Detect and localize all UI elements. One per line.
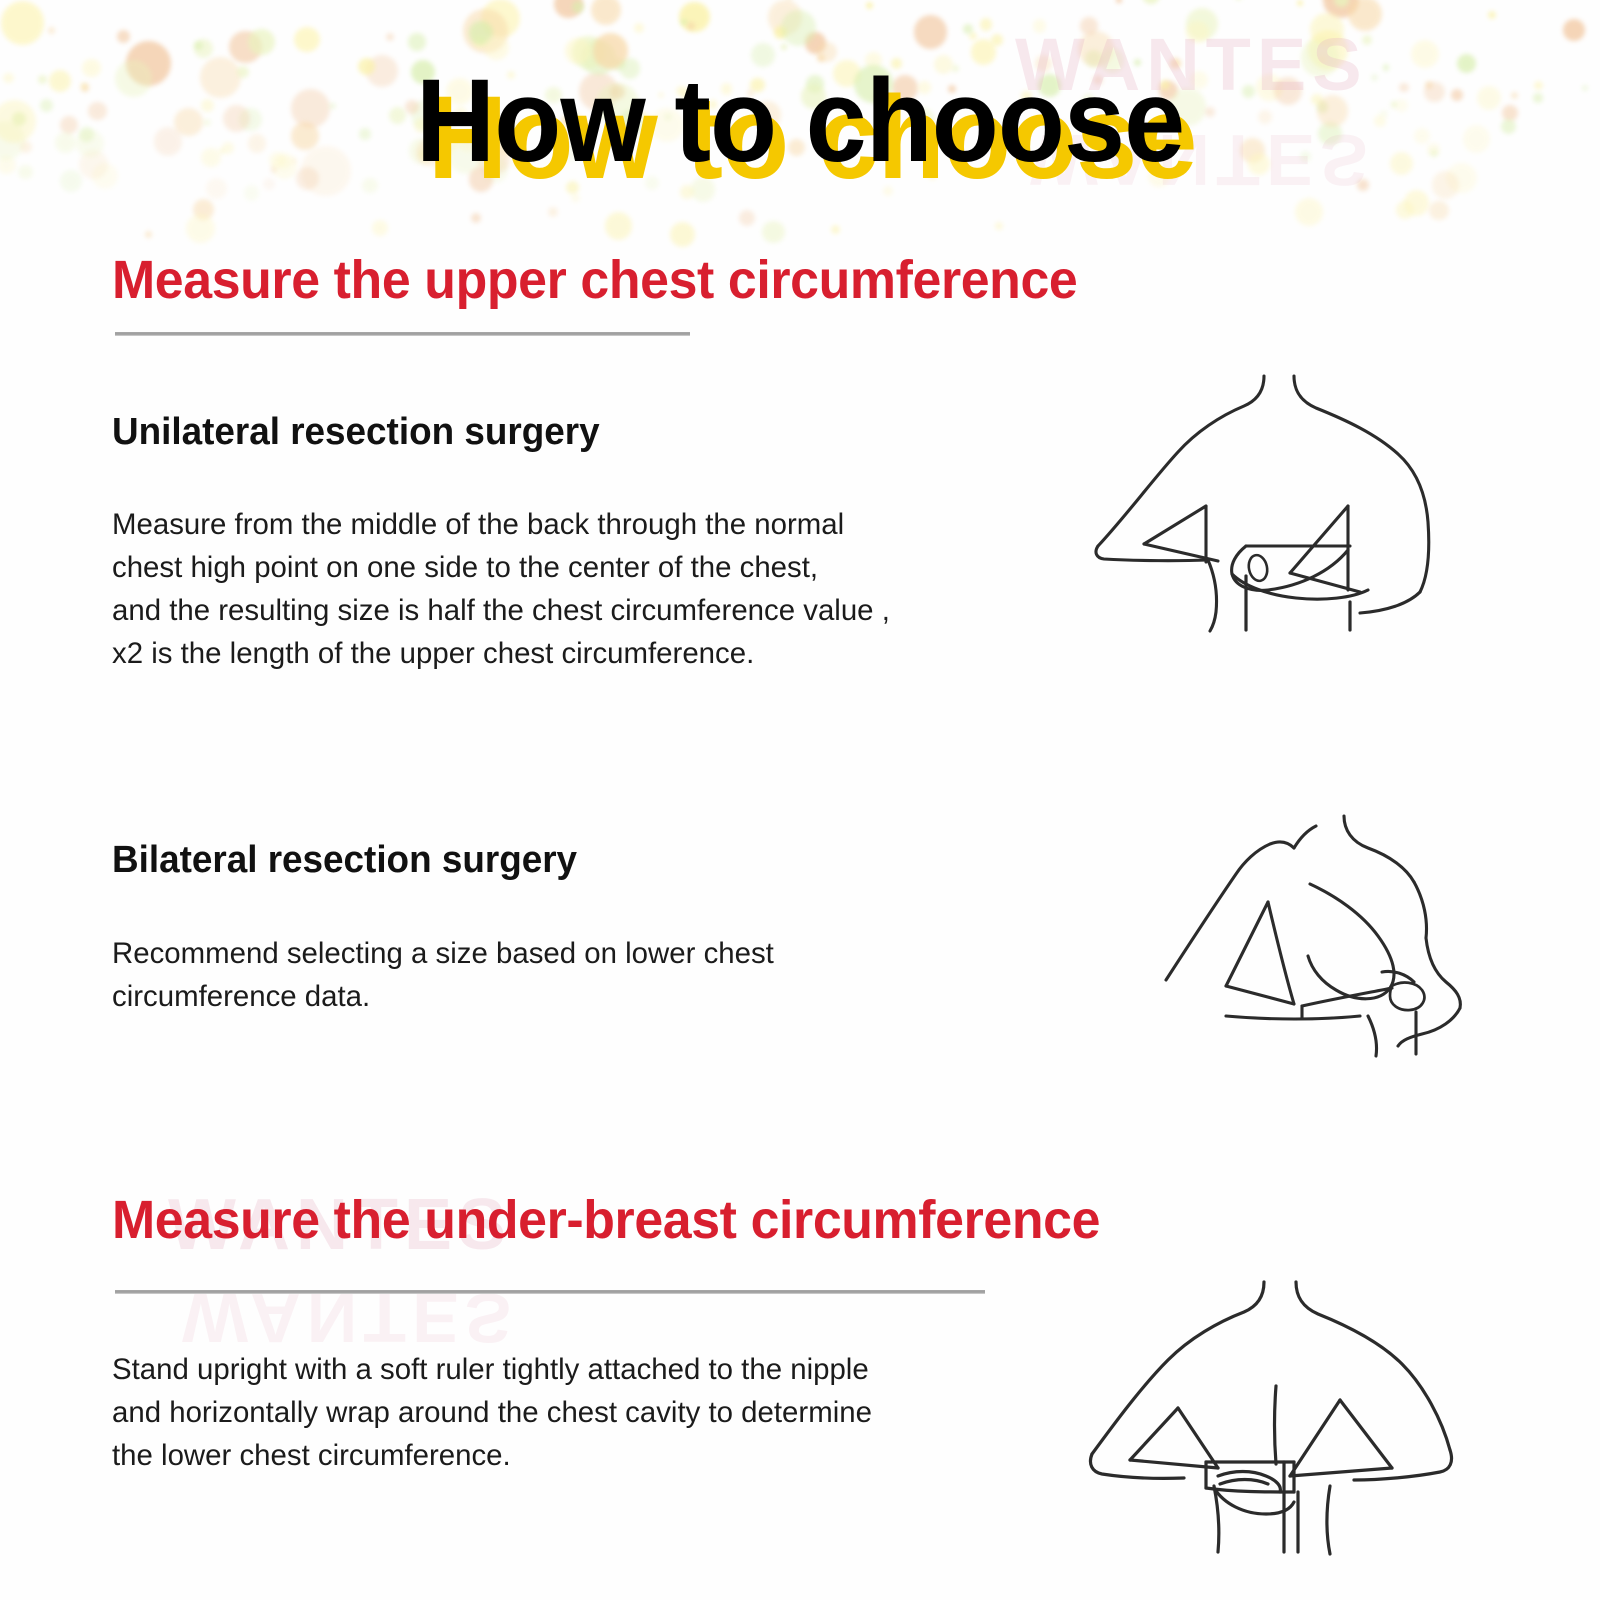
confetti-dot (408, 33, 425, 50)
confetti-dot (48, 27, 55, 34)
body-line: chest high point on one side to the cent… (112, 546, 890, 589)
confetti-dot (634, 23, 644, 33)
confetti-dot (681, 19, 687, 25)
confetti-dot (244, 185, 259, 200)
confetti-dot (1488, 11, 1496, 19)
confetti-dot (762, 221, 784, 243)
confetti-dot (883, 186, 893, 196)
confetti-dot (1310, 13, 1343, 46)
body-line: Measure from the middle of the back thro… (112, 503, 890, 546)
confetti-dot (1186, 21, 1209, 44)
confetti-dot (670, 222, 695, 247)
illustration-torso-front-one-side (1068, 368, 1468, 633)
confetti-dot (263, 178, 275, 190)
confetti-dot (1357, 179, 1369, 191)
section-rule-1 (115, 332, 690, 336)
body-line: and horizontally wrap around the chest c… (112, 1391, 872, 1434)
confetti-dot (474, 36, 486, 48)
confetti-dot (248, 29, 274, 55)
confetti-dot (1323, 0, 1359, 18)
body-bilateral: Recommend selecting a size based on lowe… (112, 932, 774, 1018)
subheading-unilateral: Unilateral resection surgery (112, 412, 600, 454)
confetti-dot (831, 225, 840, 234)
confetti-dot (1080, 17, 1098, 35)
confetti-dot (1404, 190, 1429, 215)
confetti-dot (605, 212, 632, 239)
confetti-dot (1295, 198, 1323, 226)
body-unilateral: Measure from the middle of the back thro… (112, 503, 890, 675)
confetti-dot (294, 27, 320, 53)
confetti-dot (781, 44, 787, 50)
confetti-dot (1334, 0, 1349, 7)
confetti-dot (471, 213, 481, 223)
confetti-dot (1396, 201, 1414, 219)
page-title: How to choose (416, 62, 1184, 180)
section-heading-upper-chest: Measure the upper chest circumference (112, 252, 1077, 309)
confetti-dot (991, 34, 1003, 46)
confetti-dot (1563, 19, 1584, 40)
confetti-dot (805, 32, 827, 54)
infographic-page: WANTES WANTES WANTES WANTES How to choos… (0, 0, 1600, 1600)
confetti-dot (914, 15, 948, 49)
confetti-dot (687, 22, 695, 30)
body-line: and the resulting size is half the chest… (112, 589, 890, 632)
confetti-dot (469, 21, 493, 45)
illustration-torso-back-underbust (1068, 1272, 1468, 1562)
confetti-dot (781, 10, 817, 46)
confetti-dot (768, 0, 803, 35)
confetti-dot (1186, 8, 1219, 41)
confetti-dot (963, 24, 972, 33)
confetti-dot (980, 18, 993, 31)
confetti-dot (548, 207, 558, 217)
confetti-dot (463, 9, 507, 53)
body-line: x2 is the length of the upper chest circ… (112, 632, 890, 675)
confetti-dot (554, 0, 583, 18)
confetti-dot (571, 194, 580, 203)
confetti-dot (1033, 19, 1047, 33)
confetti-dot (194, 41, 203, 50)
page-title-container: How to choose (0, 62, 1600, 180)
confetti-dot (786, 0, 792, 1)
confetti-dot (1142, 0, 1161, 4)
confetti-dot (572, 1, 584, 13)
confetti-dot (386, 33, 394, 41)
confetti-dot (680, 185, 694, 199)
confetti-dot (1348, 0, 1382, 31)
confetti-dot (1429, 201, 1448, 220)
confetti-dot (193, 199, 214, 220)
confetti-dot (1, 1, 45, 45)
body-line: Stand upright with a soft ruler tightly … (112, 1348, 872, 1391)
confetti-dot (774, 26, 787, 39)
section-rule-2 (115, 1290, 985, 1294)
confetti-dot (969, 32, 977, 40)
confetti-dot (117, 30, 130, 43)
confetti-dot (995, 222, 1003, 230)
confetti-dot (229, 31, 262, 64)
confetti-dot (372, 220, 388, 236)
confetti-dot (591, 0, 621, 25)
body-line: circumference data. (112, 975, 774, 1018)
confetti-dot (1297, 0, 1303, 6)
body-under-breast: Stand upright with a soft ruler tightly … (112, 1348, 872, 1477)
confetti-dot (866, 2, 873, 9)
body-line: the lower chest circumference. (112, 1434, 872, 1477)
body-line: Recommend selecting a size based on lowe… (112, 932, 774, 975)
confetti-dot (481, 0, 520, 38)
confetti-dot (1116, 0, 1122, 3)
confetti-dot (739, 210, 755, 226)
confetti-dot (186, 214, 215, 243)
confetti-dot (145, 231, 152, 238)
section-heading-under-breast: Measure the under-breast circumference (112, 1192, 1100, 1249)
confetti-dot (206, 178, 227, 199)
confetti-dot (1362, 35, 1372, 45)
confetti-dot (362, 178, 377, 193)
confetti-dot (679, 2, 710, 33)
subheading-bilateral: Bilateral resection surgery (112, 840, 577, 882)
confetti-dot (194, 39, 213, 58)
illustration-torso-side-profile (1110, 790, 1470, 1065)
